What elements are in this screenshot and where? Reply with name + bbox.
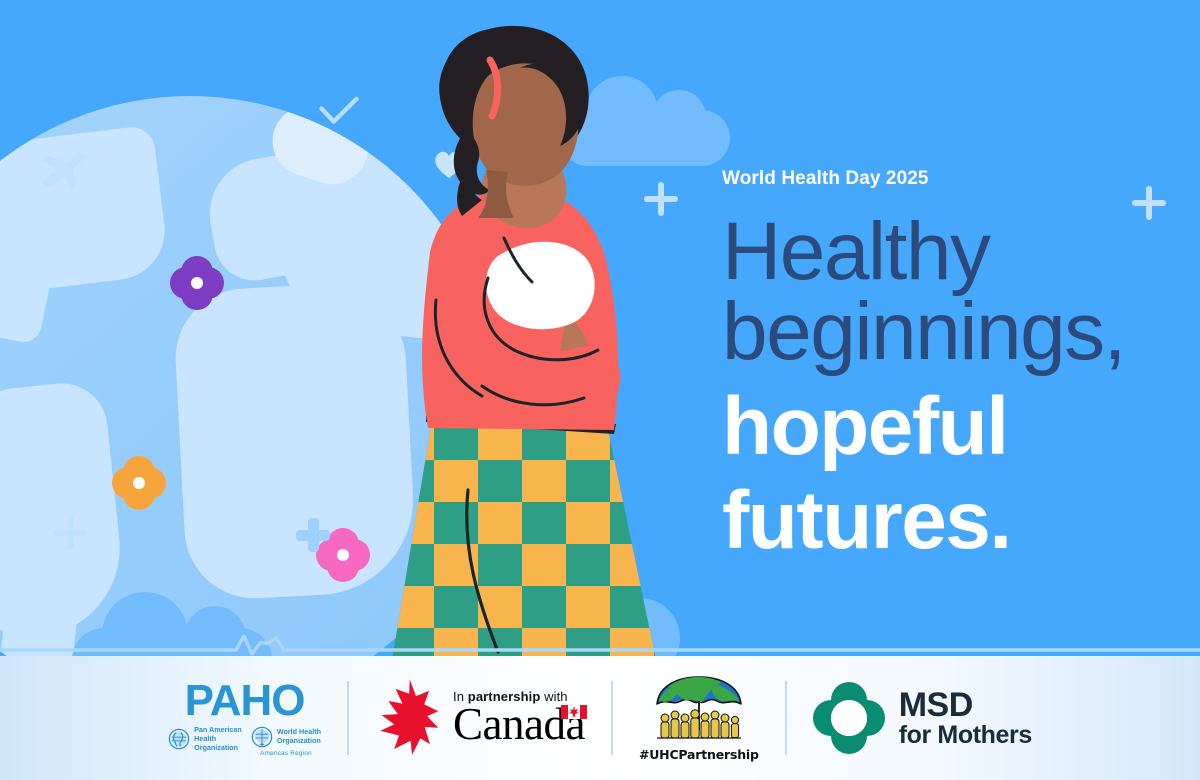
headline-line-2: beginnings, — [722, 292, 1192, 372]
paho-region-text: Americas Region — [260, 750, 312, 757]
canada-flag-icon — [561, 705, 587, 719]
mother-holding-baby-illustration — [370, 20, 730, 660]
paho-who-text: World Health Organization — [277, 728, 321, 746]
paho-wordmark: PAHO — [185, 679, 305, 723]
paho-globe-icon — [168, 728, 190, 750]
logo-paho[interactable]: PAHO Pan American Health — [142, 674, 347, 762]
uhc-hashtag: #UHCPartnership — [639, 747, 759, 762]
logo-uhc-partnership[interactable]: #UHCPartnership — [613, 674, 785, 762]
heartbeat-line-icon — [0, 630, 1200, 656]
world-health-day-banner: World Health Day 2025 Healthy beginnings… — [0, 0, 1200, 780]
uhc-umbrella-crowd-icon — [651, 674, 747, 746]
canada-wordmark-wrap: Canada — [453, 702, 585, 747]
paho-org1-line3: Organization — [194, 744, 242, 753]
flower-pink-icon — [316, 528, 370, 582]
paho-org2-line2: Organization — [277, 737, 321, 746]
paho-pan-american-text: Pan American Health Organization — [194, 726, 242, 752]
headline-block: World Health Day 2025 Healthy beginnings… — [722, 168, 1192, 561]
flower-orange-icon — [112, 456, 166, 510]
logo-msd-for-mothers[interactable]: MSD for Mothers — [787, 674, 1058, 762]
headline-line-4: futures. — [722, 481, 1192, 561]
headline-line-1: Healthy — [722, 212, 1192, 292]
skirt — [370, 415, 730, 660]
eyebrow-text: World Health Day 2025 — [722, 168, 1192, 190]
paho-who-block: World Health Organization Americas Regio… — [251, 726, 321, 757]
logo-canada[interactable]: In partnership with Canada — [349, 674, 611, 762]
msd-wordmark: MSD — [899, 688, 1032, 723]
maple-leaf-icon — [375, 679, 439, 757]
partner-logo-bar: PAHO Pan American Health — [0, 656, 1200, 780]
page-title: Healthy beginnings, hopeful futures. — [722, 212, 1192, 561]
paho-pan-american-block: Pan American Health Organization — [168, 726, 242, 752]
msd-clover-icon — [813, 682, 885, 754]
headline-line-3: hopeful — [722, 387, 1192, 467]
msd-tagline: for Mothers — [899, 723, 1032, 749]
who-emblem-icon — [251, 726, 273, 748]
flower-purple-icon — [170, 256, 224, 310]
